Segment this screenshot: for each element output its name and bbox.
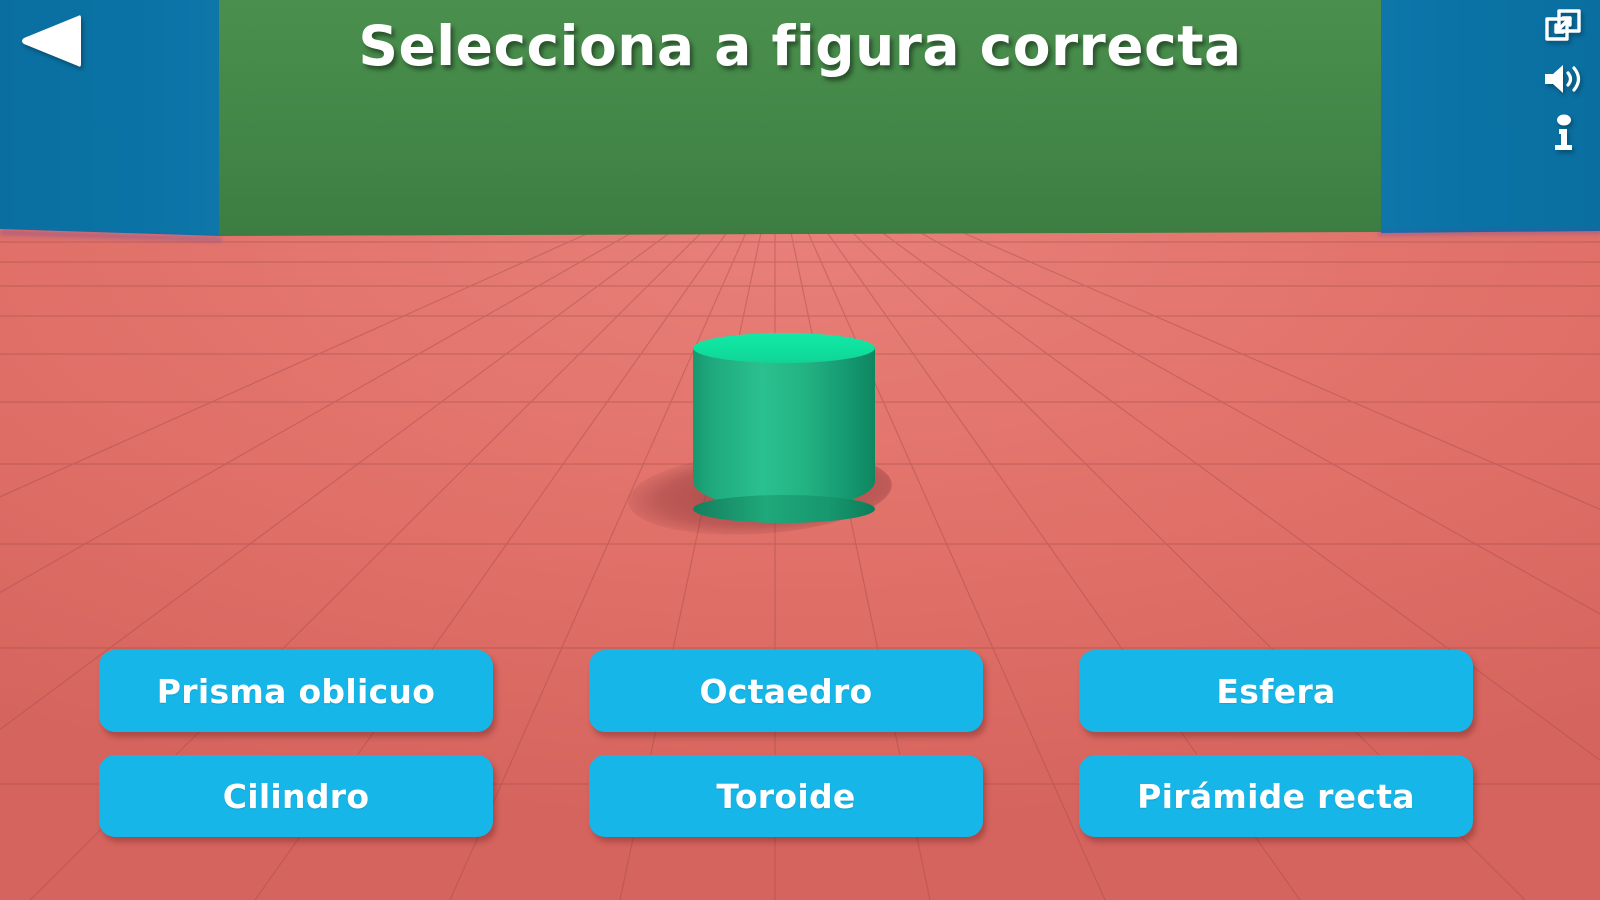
back-arrow-icon <box>18 10 84 72</box>
cylinder-shape <box>693 333 875 523</box>
answer-button-cilindro[interactable]: Cilindro <box>99 755 493 837</box>
fullscreen-button[interactable] <box>1540 6 1586 48</box>
answer-button-piramide-recta[interactable]: Pirámide recta <box>1079 755 1473 837</box>
game-screen: Selecciona a figura correcta <box>0 0 1600 900</box>
info-button[interactable] <box>1540 114 1586 156</box>
back-button[interactable] <box>18 10 84 72</box>
cylinder-bottom <box>693 495 875 523</box>
top-right-icons <box>1540 6 1586 156</box>
volume-button[interactable] <box>1540 60 1586 102</box>
answer-button-octaedro[interactable]: Octaedro <box>589 650 983 732</box>
info-icon <box>1551 114 1575 156</box>
answer-button-prisma-oblicuo[interactable]: Prisma oblicuo <box>99 650 493 732</box>
answer-button-esfera[interactable]: Esfera <box>1079 650 1473 732</box>
answer-button-toroide[interactable]: Toroide <box>589 755 983 837</box>
answer-options: Prisma oblicuo Octaedro Esfera Cilindro … <box>99 650 1473 837</box>
cylinder-top <box>693 333 875 363</box>
fullscreen-icon <box>1543 7 1583 47</box>
cylinder-body <box>693 347 875 509</box>
volume-icon <box>1542 62 1584 100</box>
